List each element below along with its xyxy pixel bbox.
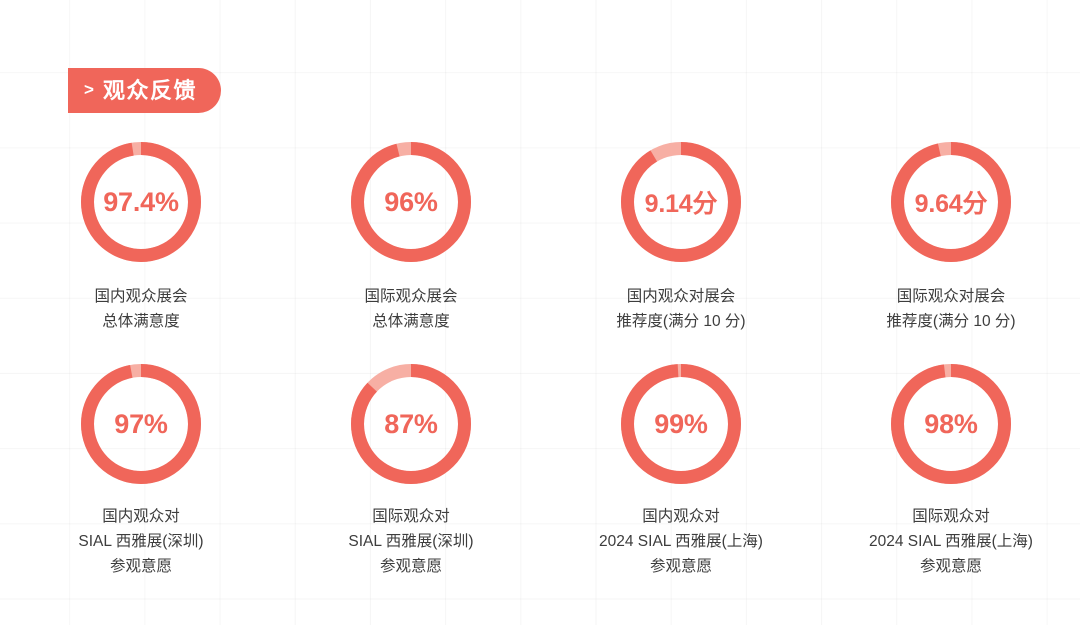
donut-chart: 9.64分	[891, 142, 1011, 262]
donut-chart: 98%	[891, 364, 1011, 484]
donut-chart: 97.4%	[81, 142, 201, 262]
stat-card: 9.64分 国际观众对展会 推荐度(满分 10 分)	[816, 142, 1080, 364]
donut-chart: 9.14分	[621, 142, 741, 262]
donut-value-text: 96%	[351, 142, 471, 262]
stat-label-line: SIAL 西雅展(深圳)	[78, 529, 203, 554]
stat-label-line: 总体满意度	[364, 309, 457, 334]
stat-label: 国内观众对 2024 SIAL 西雅展(上海) 参观意愿	[599, 504, 763, 579]
stat-label-line: 参观意愿	[348, 554, 473, 579]
donut-value-text: 87%	[351, 364, 471, 484]
stat-label-line: 参观意愿	[78, 554, 203, 579]
stat-card: 97% 国内观众对 SIAL 西雅展(深圳) 参观意愿	[6, 364, 276, 579]
stat-card: 87% 国际观众对 SIAL 西雅展(深圳) 参观意愿	[276, 364, 546, 579]
section-title: 观众反馈	[103, 80, 197, 102]
stat-label-line: 国内观众对	[599, 504, 763, 529]
donut-chart: 87%	[351, 364, 471, 484]
stat-label-line: 国内观众对展会	[616, 284, 745, 309]
stat-label-line: 推荐度(满分 10 分)	[886, 309, 1015, 334]
audience-feedback-stats-grid: 97.4% 国内观众展会 总体满意度 96% 国际观众展会 总体满意度 9.14…	[0, 142, 1080, 579]
stat-card: 98% 国际观众对 2024 SIAL 西雅展(上海) 参观意愿	[816, 364, 1080, 579]
stat-label: 国内观众对展会 推荐度(满分 10 分)	[616, 284, 745, 334]
stat-label-line: 国际观众对	[869, 504, 1033, 529]
stat-label-line: 国内观众对	[78, 504, 203, 529]
donut-value-text: 9.14分	[621, 142, 741, 262]
stat-label-line: 参观意愿	[599, 554, 763, 579]
stat-label-line: SIAL 西雅展(深圳)	[348, 529, 473, 554]
stat-card: 99% 国内观众对 2024 SIAL 西雅展(上海) 参观意愿	[546, 364, 816, 579]
stat-label: 国际观众对展会 推荐度(满分 10 分)	[886, 284, 1015, 334]
stat-label-line: 2024 SIAL 西雅展(上海)	[869, 529, 1033, 554]
stat-label-line: 推荐度(满分 10 分)	[616, 309, 745, 334]
donut-value-text: 97%	[81, 364, 201, 484]
stat-label: 国际观众展会 总体满意度	[364, 284, 457, 334]
donut-chart: 97%	[81, 364, 201, 484]
donut-value-text: 97.4%	[81, 142, 201, 262]
stat-label: 国内观众对 SIAL 西雅展(深圳) 参观意愿	[78, 504, 203, 579]
stat-label-line: 总体满意度	[94, 309, 187, 334]
chevron-right-icon: >	[84, 81, 94, 98]
stat-label: 国际观众对 2024 SIAL 西雅展(上海) 参观意愿	[869, 504, 1033, 579]
donut-value-text: 99%	[621, 364, 741, 484]
donut-value-text: 98%	[891, 364, 1011, 484]
stat-label-line: 参观意愿	[869, 554, 1033, 579]
stat-label-line: 国际观众对	[348, 504, 473, 529]
stat-card: 9.14分 国内观众对展会 推荐度(满分 10 分)	[546, 142, 816, 364]
donut-chart: 96%	[351, 142, 471, 262]
donut-chart: 99%	[621, 364, 741, 484]
stat-card: 96% 国际观众展会 总体满意度	[276, 142, 546, 364]
stat-card: 97.4% 国内观众展会 总体满意度	[6, 142, 276, 364]
stat-label-line: 国际观众展会	[364, 284, 457, 309]
donut-value-text: 9.64分	[891, 142, 1011, 262]
section-header-badge: > 观众反馈	[68, 68, 221, 113]
stat-label-line: 国际观众对展会	[886, 284, 1015, 309]
stat-label: 国际观众对 SIAL 西雅展(深圳) 参观意愿	[348, 504, 473, 579]
stat-label-line: 国内观众展会	[94, 284, 187, 309]
stat-label-line: 2024 SIAL 西雅展(上海)	[599, 529, 763, 554]
stat-label: 国内观众展会 总体满意度	[94, 284, 187, 334]
